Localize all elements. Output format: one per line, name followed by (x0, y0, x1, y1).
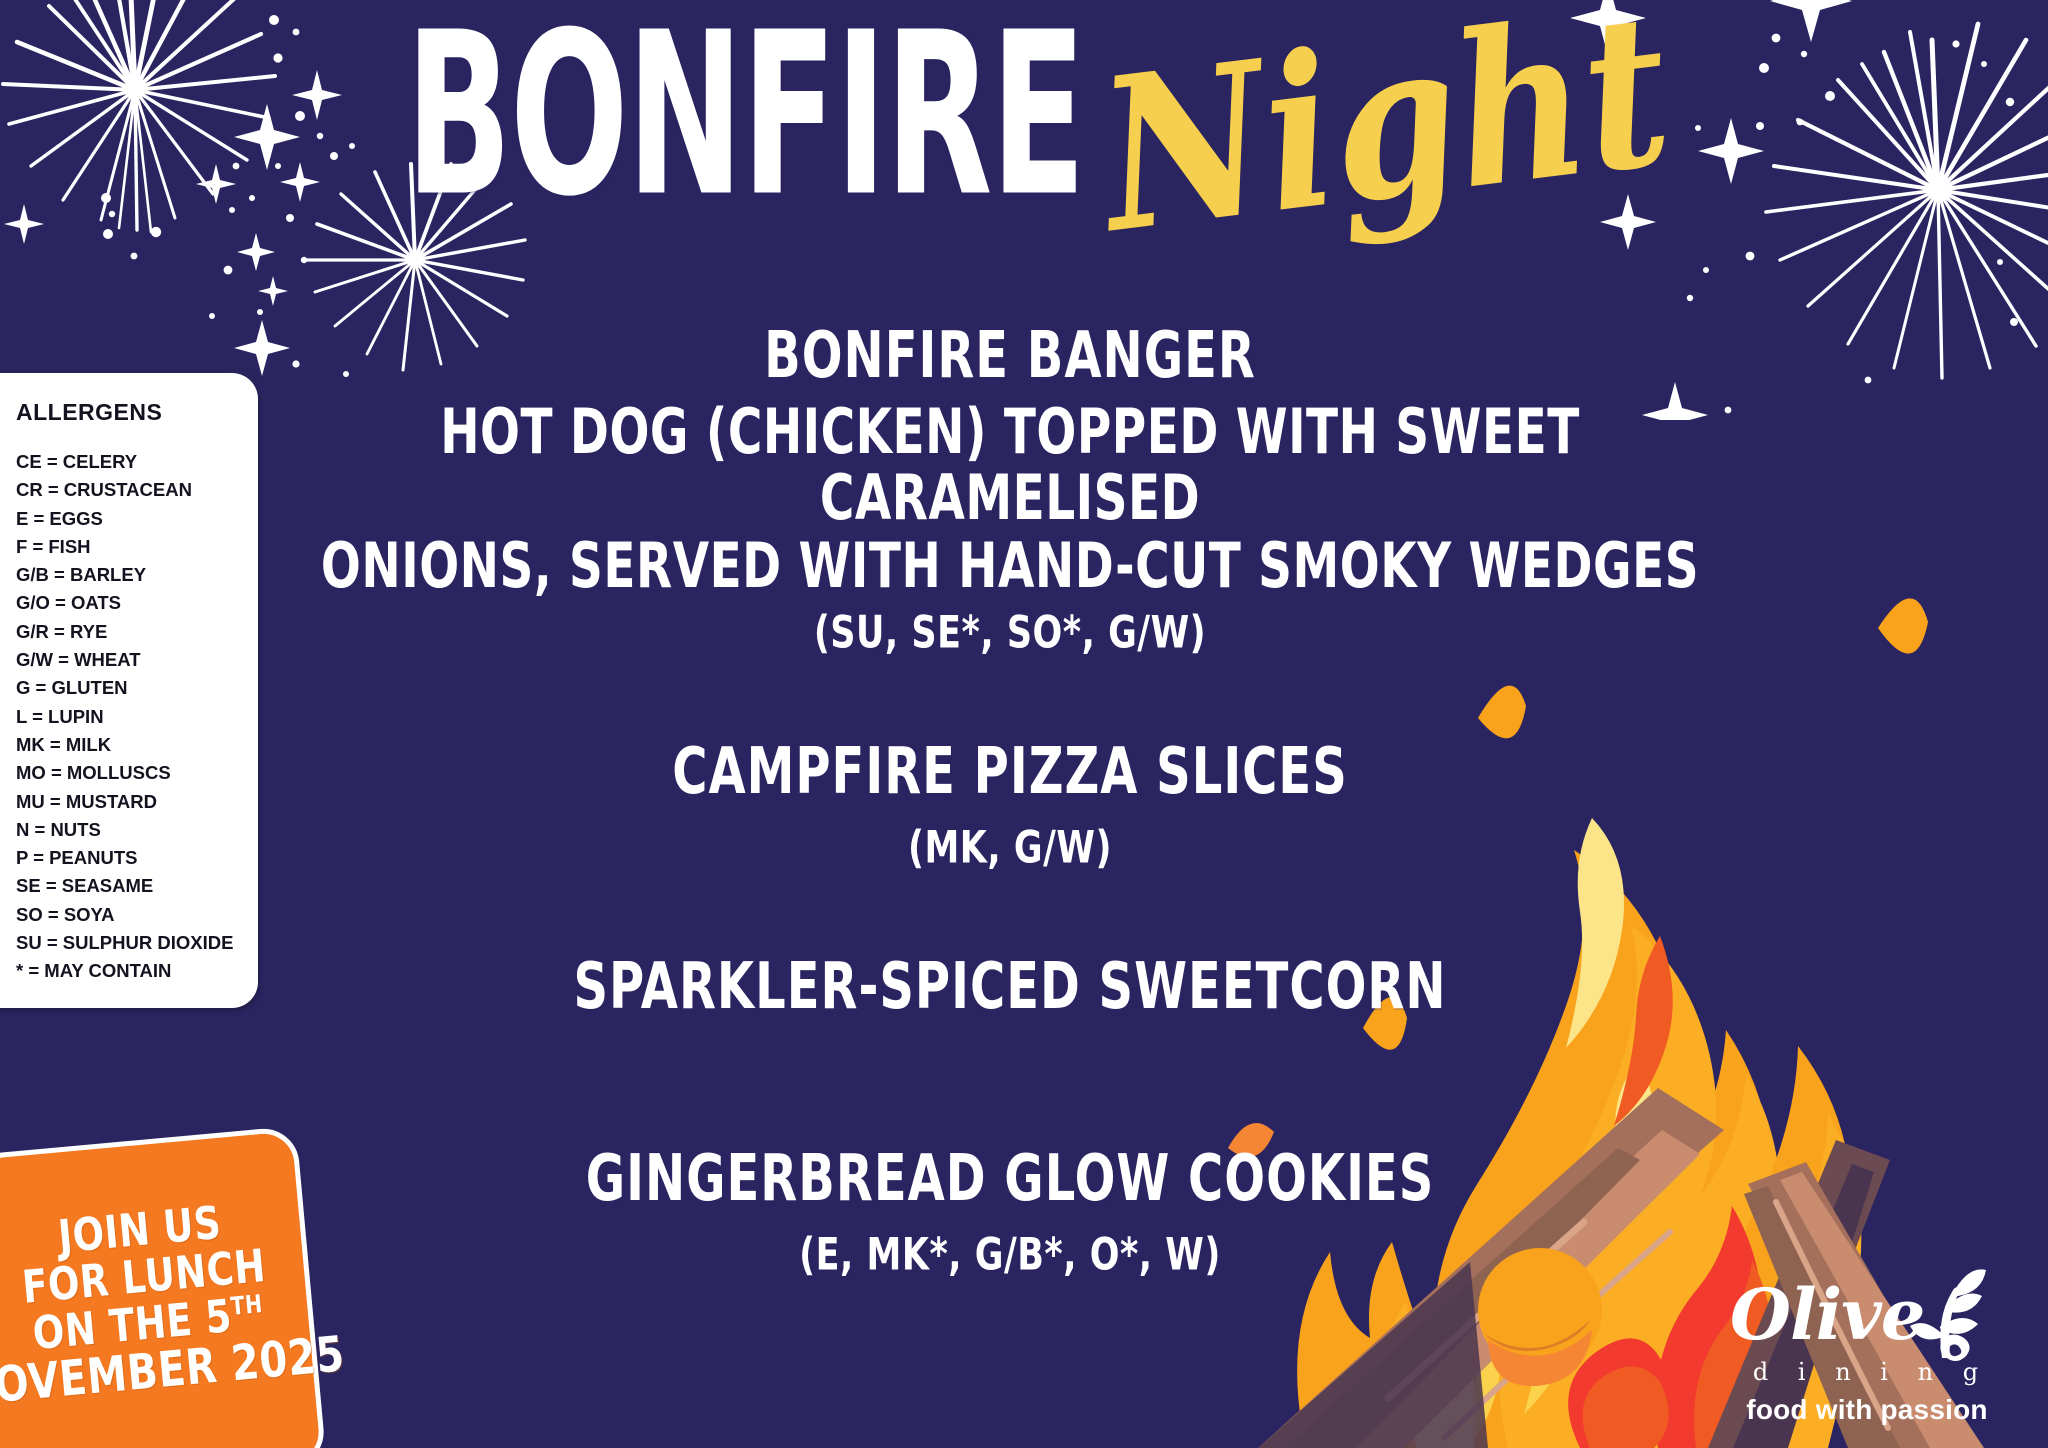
allergen-item: P = PEANUTS (16, 844, 242, 872)
allergen-item: N = NUTS (16, 816, 242, 844)
menu-item-gingerbread-glow-cookies: GINGERBREAD GLOW COOKIES (E, MK*, G/B*, … (300, 1155, 1720, 1274)
menu-item-allergens: (SU, SE*, SO*, G/W) (300, 613, 1720, 657)
allergen-item: MO = MOLLUSCS (16, 759, 242, 787)
allergens-heading: ALLERGENS (16, 399, 242, 426)
menu-list: BONFIRE BANGER HOT DOG (CHICKEN) TOPPED … (300, 332, 1720, 1274)
menu-item-bonfire-banger: BONFIRE BANGER HOT DOG (CHICKEN) TOPPED … (300, 332, 1720, 652)
allergen-item: E = EGGS (16, 505, 242, 533)
allergen-item: CE = CELERY (16, 448, 242, 476)
olive-branch-icon (1898, 1266, 1990, 1362)
allergen-item: G = GLUTEN (16, 674, 242, 702)
menu-item-name: SPARKLER-SPICED SWEETCORN (300, 955, 1720, 1022)
allergen-item: L = LUPIN (16, 703, 242, 731)
allergen-item: G/O = OATS (16, 589, 242, 617)
menu-item-allergens: (MK, G/W) (300, 828, 1720, 872)
menu-item-sparkler-spiced-sweetcorn: SPARKLER-SPICED SWEETCORN (300, 963, 1720, 1013)
allergen-item: MK = MILK (16, 731, 242, 759)
allergen-item: SU = SULPHUR DIOXIDE (16, 929, 242, 957)
allergen-item: G/R = RYE (16, 618, 242, 646)
allergen-item: * = MAY CONTAIN (16, 957, 242, 985)
allergen-item: G/B = BARLEY (16, 561, 242, 589)
poster-title: BONFIRE Night (0, 20, 2048, 212)
allergen-item: SO = SOYA (16, 901, 242, 929)
menu-item-name: BONFIRE BANGER (300, 324, 1720, 391)
logo-tagline: food with passion (1722, 1394, 2012, 1426)
join-us-badge: JOIN US FOR LUNCH ON THE 5TH NOVEMBER 20… (0, 1126, 327, 1448)
menu-item-name: CAMPFIRE PIZZA SLICES (300, 740, 1720, 807)
title-night: Night (1091, 0, 1679, 262)
bonfire-night-poster: BONFIRE Night (0, 0, 2048, 1448)
olive-dining-logo: Olive d i n i n g food with passion (1722, 1278, 2012, 1426)
allergen-item: CR = CRUSTACEAN (16, 476, 242, 504)
allergens-card: ALLERGENS CE = CELERY CR = CRUSTACEAN E … (0, 373, 258, 1008)
logo-brand-name: Olive (1730, 1280, 1924, 1350)
menu-item-description-line-2: ONIONS, SERVED WITH HAND-CUT SMOKY WEDGE… (300, 534, 1720, 600)
allergens-list: CE = CELERY CR = CRUSTACEAN E = EGGS F =… (16, 448, 242, 986)
allergen-item: G/W = WHEAT (16, 646, 242, 674)
allergen-item: MU = MUSTARD (16, 788, 242, 816)
join-us-date-ordinal: TH (229, 1288, 263, 1320)
allergen-item: SE = SEASAME (16, 872, 242, 900)
menu-item-allergens: (E, MK*, G/B*, O*, W) (300, 1235, 1720, 1279)
title-bonfire: BONFIRE (406, 4, 1085, 229)
menu-item-name: GINGERBREAD GLOW COOKIES (300, 1147, 1720, 1214)
allergen-item: F = FISH (16, 533, 242, 561)
menu-item-campfire-pizza-slices: CAMPFIRE PIZZA SLICES (MK, G/W) (300, 748, 1720, 867)
menu-item-description-line-1: HOT DOG (CHICKEN) TOPPED WITH SWEET CARA… (300, 400, 1720, 532)
